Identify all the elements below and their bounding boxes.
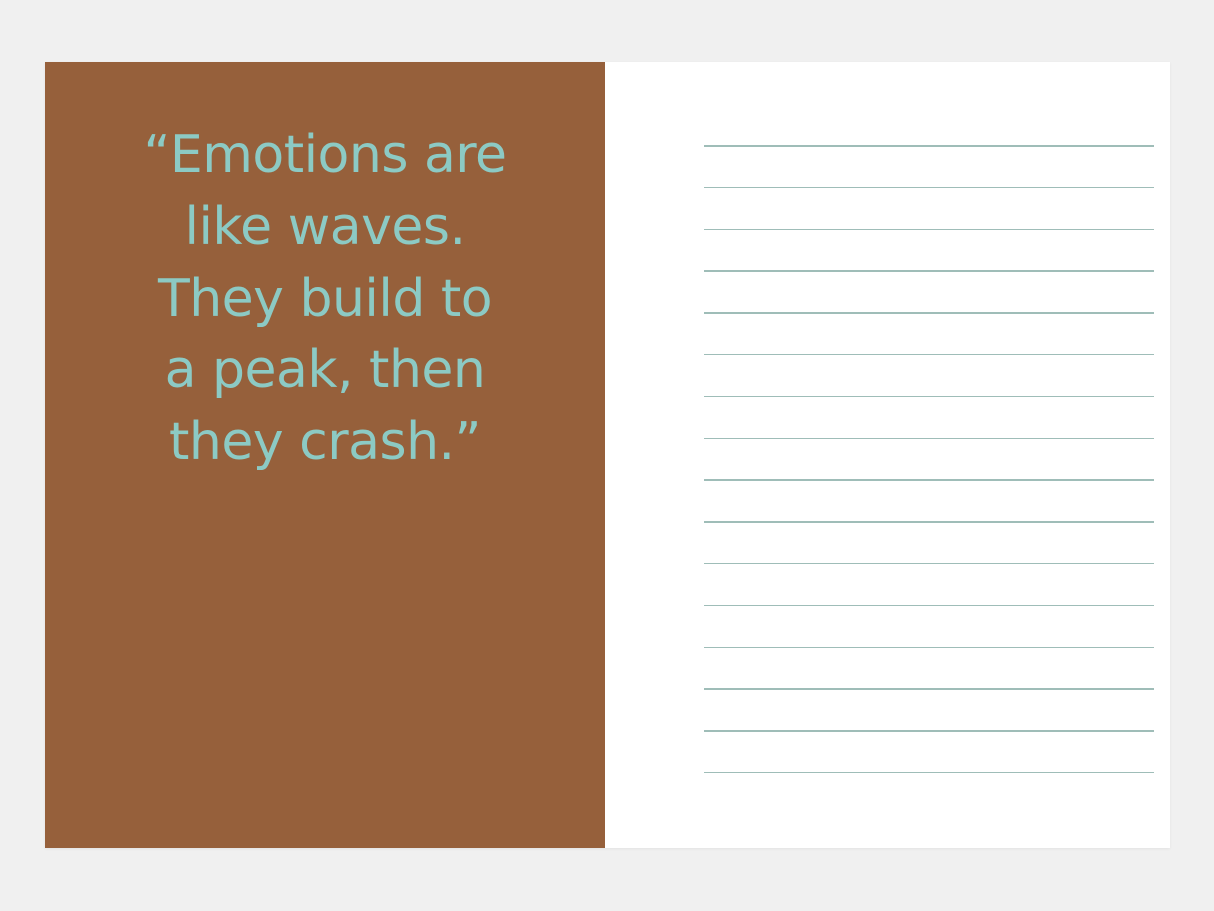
rule-line[interactable] [704,772,1154,774]
quote-page: “Emotions are like waves. They build to … [45,62,605,848]
journal-spread: “Emotions are like waves. They build to … [45,62,1170,848]
rule-line[interactable] [704,730,1154,732]
quote-block: “Emotions are like waves. They build to … [105,120,545,479]
rule-line[interactable] [704,312,1154,314]
rule-line[interactable] [704,354,1154,356]
rule-line[interactable] [704,688,1154,690]
rule-line[interactable] [704,145,1154,147]
rule-line[interactable] [704,396,1154,398]
rule-line[interactable] [704,438,1154,440]
rule-line[interactable] [704,229,1154,231]
rule-line[interactable] [704,605,1154,607]
rule-line[interactable] [704,187,1154,189]
quote-text: “Emotions are like waves. They build to … [105,120,545,479]
ruled-lines-area[interactable] [704,145,1154,773]
rule-line[interactable] [704,647,1154,649]
notes-page [605,62,1170,848]
rule-line[interactable] [704,521,1154,523]
rule-line[interactable] [704,479,1154,481]
rule-line[interactable] [704,563,1154,565]
screenshot-canvas: “Emotions are like waves. They build to … [0,0,1214,911]
rule-line[interactable] [704,270,1154,272]
